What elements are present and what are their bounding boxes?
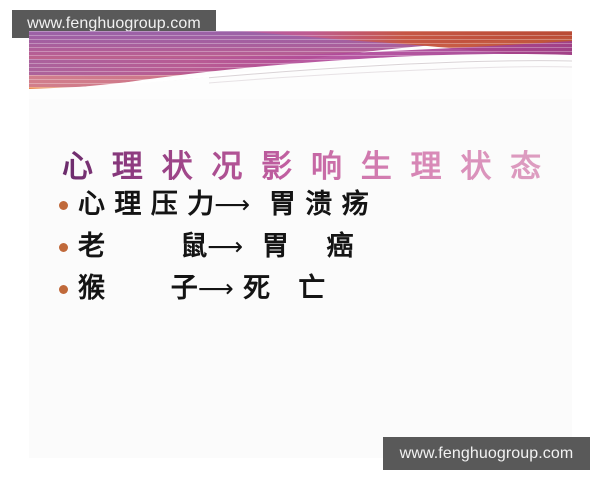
bullet-pad (243, 233, 262, 260)
bullet-cause: 老 鼠 (78, 233, 207, 260)
header-wave-graphic (29, 31, 572, 99)
bullet-list: 心 理 压 力 ⟶ 胃 溃 疡 老 鼠 ⟶ 胃 癌 猴 子 ⟶ 死 亡 (59, 183, 529, 309)
arrow-icon: ⟶ (207, 234, 243, 259)
page-title: 心 理 状 况 影 响 生 理 状 态 (62, 150, 542, 184)
watermark-bottom: www.fenghuogroup.com (383, 437, 590, 470)
list-item: 老 鼠 ⟶ 胃 癌 (59, 225, 529, 267)
watermark-bottom-text: www.fenghuogroup.com (400, 445, 574, 463)
bullet-effect: 胃 溃 疡 (269, 191, 369, 218)
bullet-cause: 心 理 压 力 (78, 191, 214, 218)
bullet-cause: 猴 子 (78, 275, 198, 302)
arrow-icon: ⟶ (214, 192, 250, 217)
bullet-effect: 死 亡 (243, 275, 325, 302)
header-wave-svg (29, 31, 572, 99)
list-item: 猴 子 ⟶ 死 亡 (59, 267, 529, 309)
bullet-dot-icon (59, 201, 68, 210)
list-item: 心 理 压 力 ⟶ 胃 溃 疡 (59, 183, 529, 225)
bullet-pad (250, 191, 269, 218)
slide-canvas: 心 理 状 况 影 响 生 理 状 态 心 理 压 力 ⟶ 胃 溃 疡 老 鼠 … (29, 31, 572, 458)
bullet-dot-icon (59, 285, 68, 294)
bullet-dot-icon (59, 243, 68, 252)
bullet-effect: 胃 癌 (262, 233, 354, 260)
bullet-pad (234, 275, 243, 302)
arrow-icon: ⟶ (198, 276, 234, 301)
